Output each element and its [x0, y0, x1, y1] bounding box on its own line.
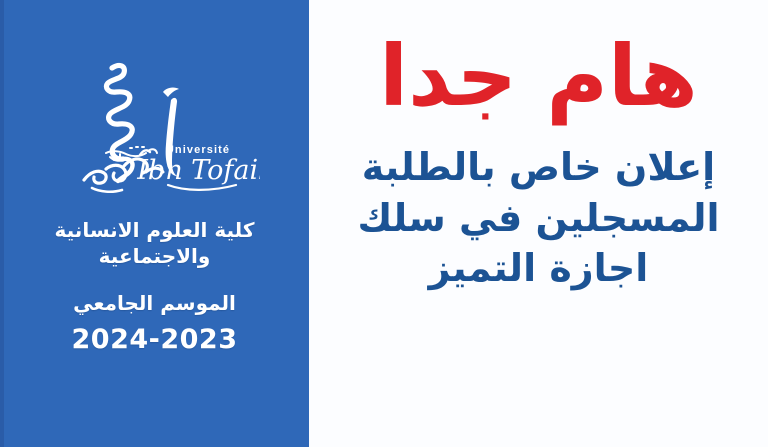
announcement-body-line-1: إعلان خاص بالطلبة	[357, 142, 719, 193]
logo-ibn-tofail-script: Ibn Tofail	[136, 155, 260, 186]
ibn-tofail-university-logo-icon: Université Ibn Tofail	[50, 52, 260, 212]
announcement-body: إعلان خاص بالطلبة المسجلين في سلك اجازة …	[331, 142, 745, 294]
announcement-headline: هام جدا	[379, 34, 697, 118]
branding-panel: Université Ibn Tofail كلية العلوم الانسا…	[0, 0, 309, 447]
announcement-panel: هام جدا إعلان خاص بالطلبة المسجلين في سل…	[309, 0, 768, 447]
announcement-body-line-3: اجازة التميز	[357, 243, 719, 294]
faculty-name: كلية العلوم الانسانية والاجتماعية	[0, 218, 317, 269]
university-logo: Université Ibn Tofail	[50, 52, 260, 212]
academic-season-years: 2024-2023	[0, 323, 309, 358]
academic-season-label: الموسم الجامعي	[0, 291, 309, 317]
announcement-body-line-2: المسجلين في سلك	[357, 193, 719, 244]
announcement-poster: Université Ibn Tofail كلية العلوم الانسا…	[0, 0, 768, 447]
logo-alif-head	[163, 88, 179, 97]
